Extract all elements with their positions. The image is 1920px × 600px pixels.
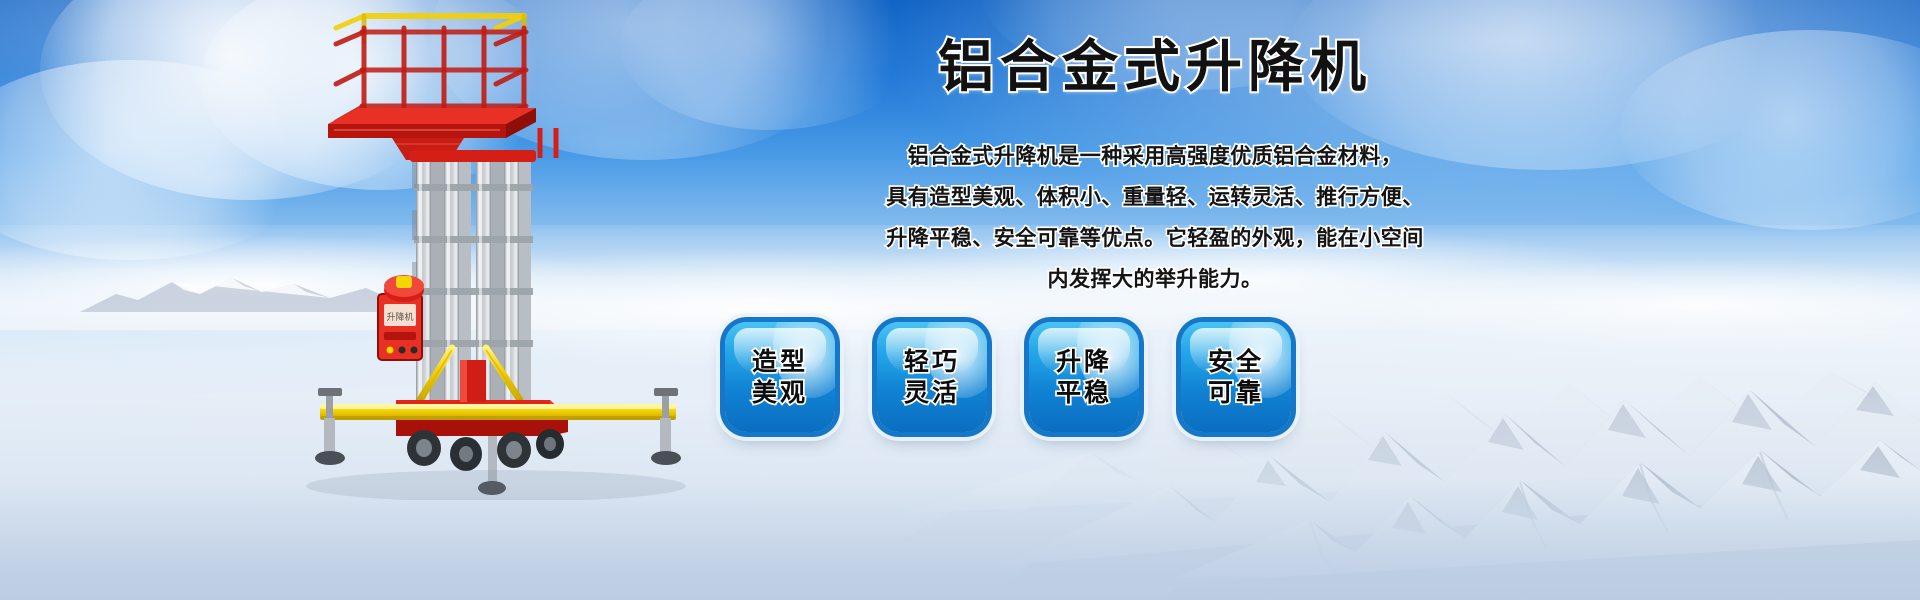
feature-badge-line-2: 可靠 — [1208, 377, 1264, 408]
description-line-2: 具有造型美观、体积小、重量轻、运转灵活、推行方便、 — [760, 177, 1550, 218]
page-title: 铝合金式升降机 — [760, 40, 1550, 96]
feature-badge-label: 轻巧 灵活 — [877, 322, 987, 432]
feature-badge-label: 安全 可靠 — [1181, 322, 1291, 432]
feature-highlight-list: 造型 美观 轻巧 灵活 升降 平稳 安全 可靠 — [725, 322, 1291, 432]
foreground-slope — [0, 480, 1920, 600]
feature-badge-label: 升降 平稳 — [1029, 322, 1139, 432]
feature-badge-label: 造型 美观 — [725, 322, 835, 432]
safety-ladder — [540, 140, 556, 400]
feature-badge-line-1: 安全 — [1208, 346, 1264, 377]
product-description: 铝合金式升降机是一种采用高强度优质铝合金材料， 具有造型美观、体积小、重量轻、运… — [760, 136, 1550, 300]
platform-floor — [328, 108, 536, 138]
outrigger-beam — [320, 404, 676, 420]
aluminum-alloy-lift-illustration: 升降机 — [300, 8, 720, 500]
product-illustration: 升降机 — [300, 8, 720, 500]
ladder-upper — [540, 128, 556, 158]
feature-badge-lightweight[interactable]: 轻巧 灵活 — [877, 322, 987, 432]
mast-top-cap — [410, 150, 536, 162]
feature-badge-safety[interactable]: 安全 可靠 — [1181, 322, 1291, 432]
platform-railing — [334, 16, 526, 124]
product-banner: 升降机 — [0, 0, 1920, 600]
feature-badge-line-2: 灵活 — [904, 377, 960, 408]
ground-shadow — [306, 470, 686, 500]
control-box-label: 升降机 — [386, 311, 413, 323]
description-line-4: 内发挥大的举升能力。 — [760, 259, 1550, 300]
description-line-3: 升降平稳、安全可靠等优点。它轻盈的外观，能在小空间 — [760, 218, 1550, 259]
feature-badge-design[interactable]: 造型 美观 — [725, 322, 835, 432]
feature-badge-line-2: 美观 — [752, 377, 808, 408]
feature-badge-smooth-lift[interactable]: 升降 平稳 — [1029, 322, 1139, 432]
description-line-1: 铝合金式升降机是一种采用高强度优质铝合金材料， — [760, 136, 1550, 177]
feature-badge-line-2: 平稳 — [1056, 377, 1112, 408]
feature-badge-line-1: 轻巧 — [904, 346, 960, 377]
banner-copy: 铝合金式升降机 铝合金式升降机是一种采用高强度优质铝合金材料， 具有造型美观、体… — [760, 40, 1550, 300]
feature-badge-line-1: 造型 — [752, 346, 808, 377]
hydraulic-motor — [384, 275, 424, 302]
feature-badge-line-1: 升降 — [1056, 346, 1112, 377]
control-box: 升降机 — [378, 294, 422, 360]
